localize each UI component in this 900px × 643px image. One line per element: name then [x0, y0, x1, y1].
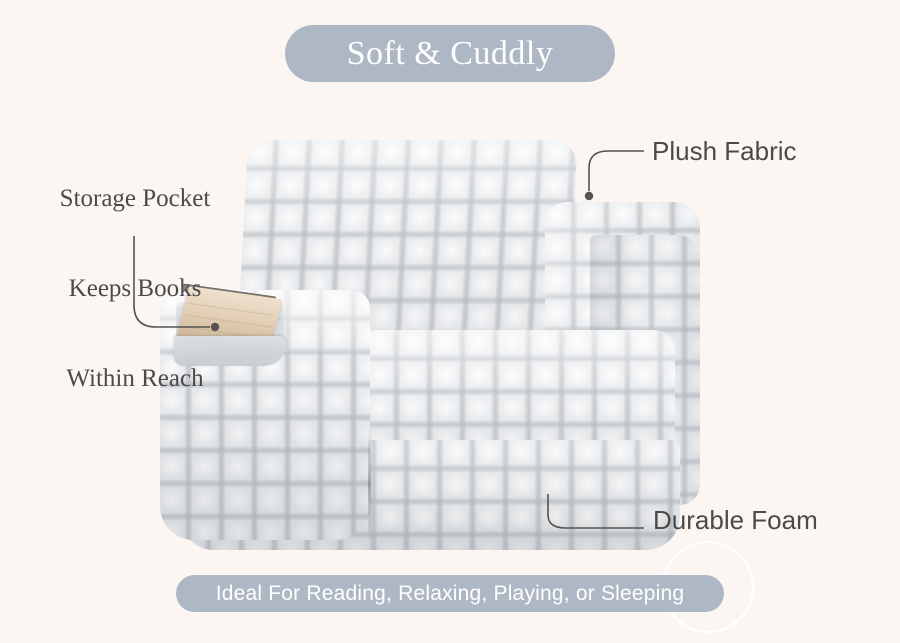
- infographic-canvas: Soft & Cuddly Storage Pocket Keeps Books: [0, 0, 900, 643]
- callout-label-durable-foam: Durable Foam: [653, 505, 818, 536]
- footer-badge: Ideal For Reading, Relaxing, Playing, or…: [176, 575, 724, 612]
- callout-label-plush-fabric: Plush Fabric: [652, 136, 797, 167]
- footer-text: Ideal For Reading, Relaxing, Playing, or…: [216, 582, 685, 606]
- callout-storage-line-1: Storage Pocket: [20, 184, 250, 214]
- page-title: Soft & Cuddly: [347, 35, 554, 73]
- title-badge: Soft & Cuddly: [285, 25, 615, 82]
- callout-storage-line-3: Within Reach: [20, 364, 250, 394]
- callout-label-storage-pocket: Storage Pocket Keeps Books Within Reach: [20, 124, 250, 454]
- callout-storage-line-2: Keeps Books: [20, 274, 250, 304]
- chair-seat-crease: [368, 426, 371, 544]
